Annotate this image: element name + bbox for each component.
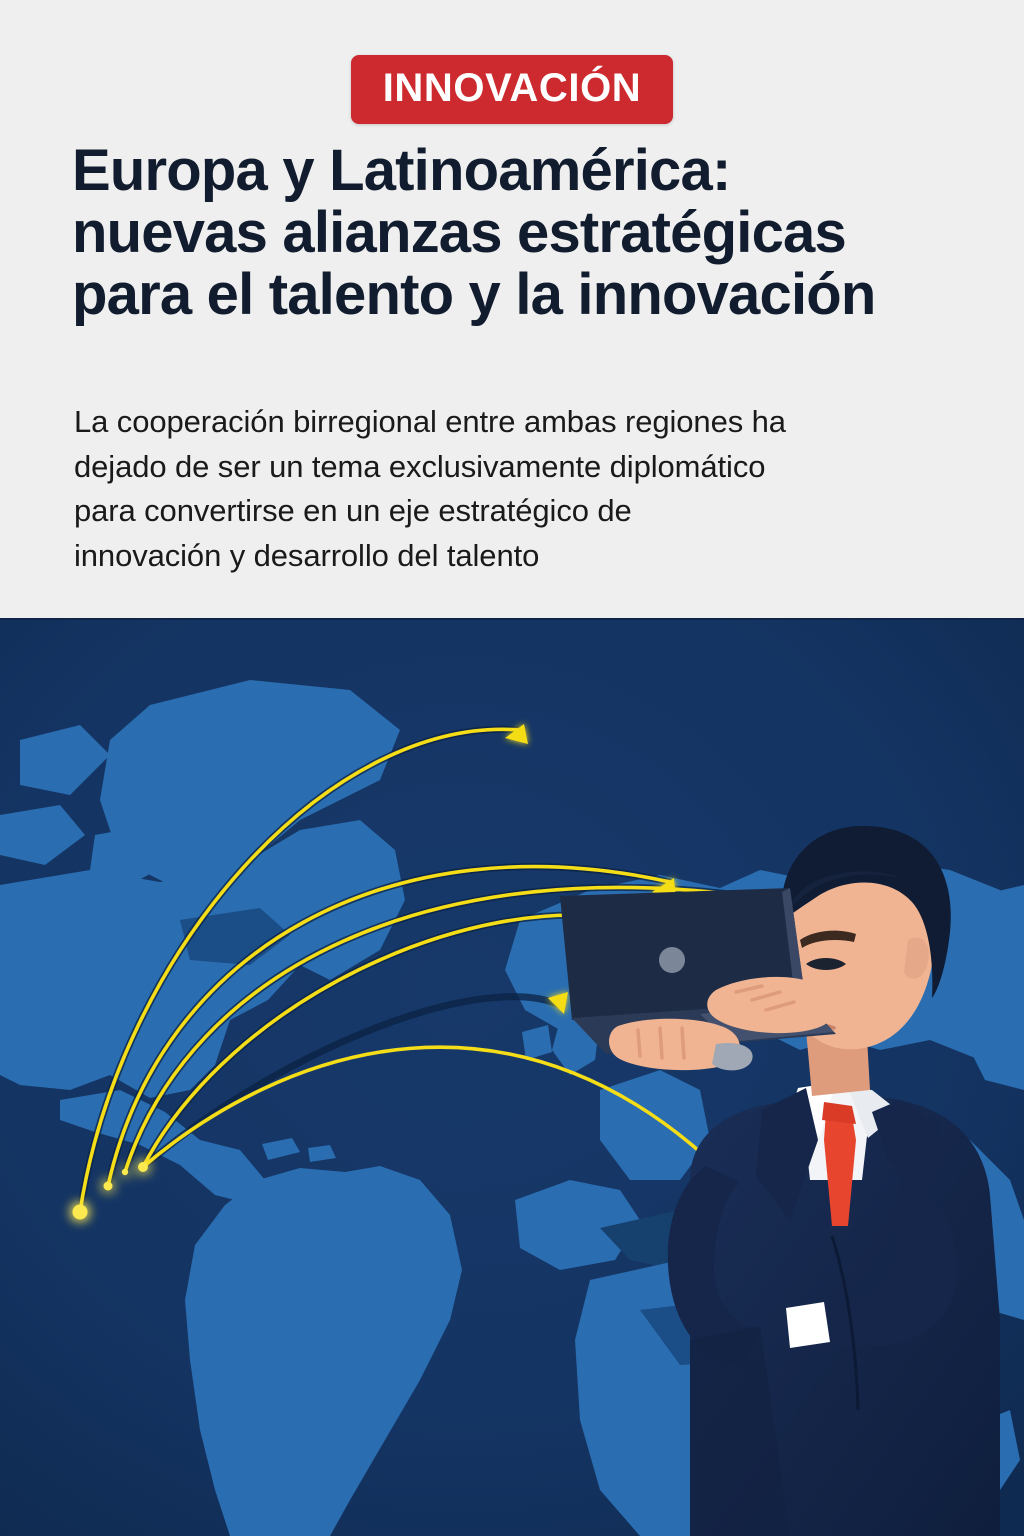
page-title-line-1: Europa y Latinoamérica: (72, 140, 1002, 202)
businessman-illustration (0, 620, 1024, 1536)
page-subtitle: La cooperación birregional entre ambas r… (74, 400, 984, 579)
poster-root: INNOVACIÓN Europa y Latinoamérica: nueva… (0, 0, 1024, 1536)
laptop-logo (659, 947, 685, 973)
world-map-illustration (0, 620, 1024, 1536)
header-section: INNOVACIÓN Europa y Latinoamérica: nueva… (0, 0, 1024, 620)
page-title-line-3: para el talento y la innovación (72, 264, 1002, 326)
category-badge: INNOVACIÓN (351, 55, 674, 124)
badge-row: INNOVACIÓN (0, 55, 1024, 124)
page-title: Europa y Latinoamérica: nuevas alianzas … (72, 140, 1002, 326)
page-subtitle-line-4: innovación y desarrollo del talento (74, 534, 984, 579)
shirt-cuff-right (786, 1302, 830, 1348)
page-subtitle-line-1: La cooperación birregional entre ambas r… (74, 400, 984, 445)
page-title-line-2: nuevas alianzas estratégicas (72, 202, 1002, 264)
page-subtitle-line-3: para convertirse en un eje estratégico d… (74, 489, 984, 534)
page-subtitle-line-2: dejado de ser un tema exclusivamente dip… (74, 445, 984, 490)
hand-left-thumb (712, 1043, 753, 1070)
